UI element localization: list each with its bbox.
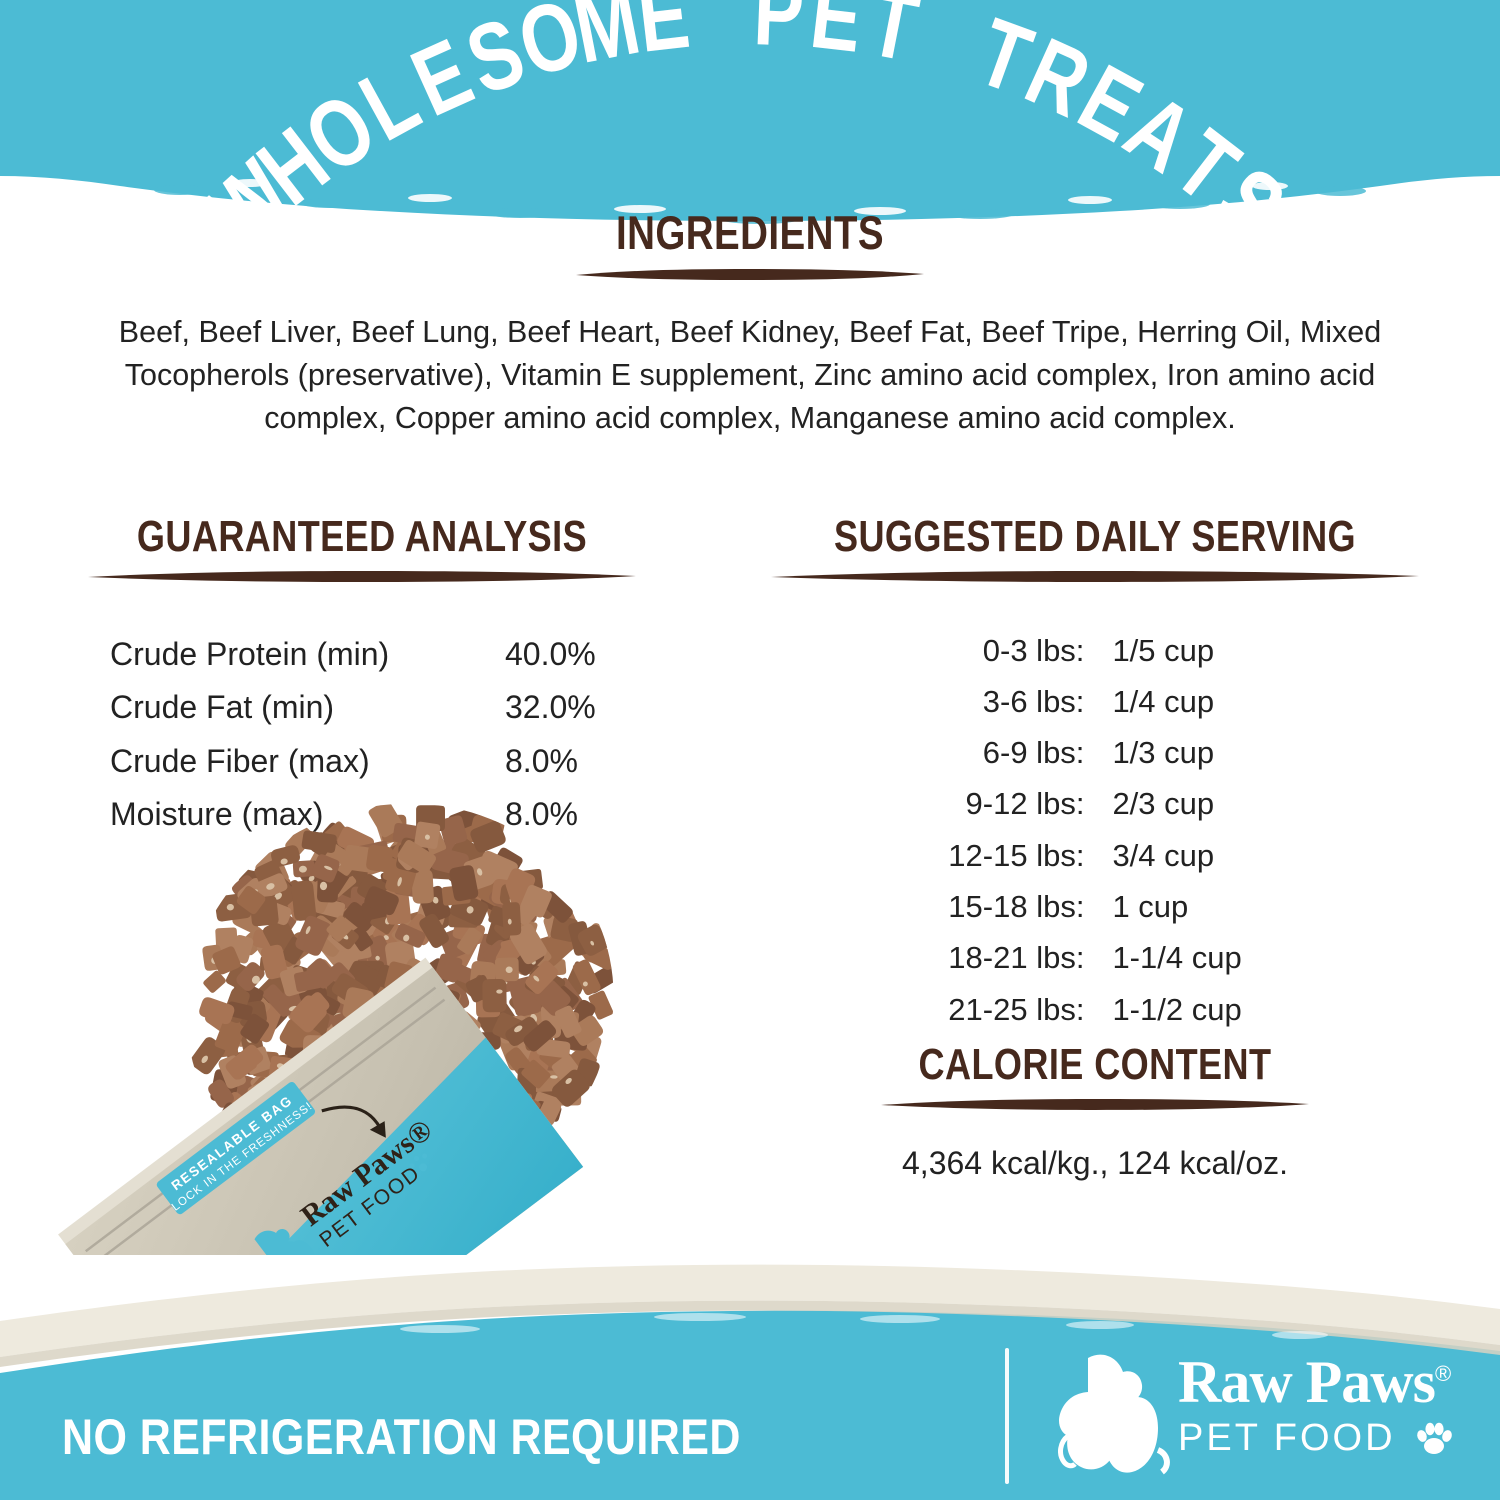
- kibble-piece: [557, 1083, 581, 1105]
- kibble-piece: [453, 846, 487, 881]
- kibble-piece: [373, 1138, 408, 1167]
- kibble-piece: [497, 1030, 529, 1072]
- kibble-piece: [234, 960, 267, 994]
- kibble-piece: [341, 957, 371, 989]
- serving-weight: 3-6 lbs:: [948, 676, 1098, 727]
- kibble-piece: [294, 1113, 330, 1136]
- kibble-piece: [468, 974, 497, 1003]
- kibble-piece: [202, 970, 227, 994]
- kibble-piece: [235, 876, 276, 917]
- kibble-piece: [264, 905, 297, 935]
- kibble-piece: [470, 1032, 501, 1050]
- kibble-piece: [329, 1010, 358, 1043]
- kibble-piece: [413, 857, 447, 876]
- ingredients-heading: INGREDIENTS: [135, 205, 1365, 260]
- kibble-piece: [534, 959, 566, 977]
- kibble-piece: [448, 891, 490, 928]
- table-row: 3-6 lbs: 1/4 cup: [948, 676, 1241, 727]
- kibble-piece: [326, 960, 357, 991]
- kibble-piece: [485, 1124, 521, 1160]
- kibble-piece: [507, 1090, 542, 1121]
- kibble-piece: [236, 1074, 274, 1105]
- kibble-piece: [492, 907, 525, 941]
- bag-logo-sub: PET FOOD: [315, 1161, 424, 1251]
- kibble-piece: [363, 1076, 390, 1096]
- serving-weight: 9-12 lbs:: [948, 779, 1098, 830]
- kibble-piece: [476, 996, 500, 1017]
- brand-logo-registered-mark: ®: [1435, 1361, 1450, 1386]
- kibble-piece: [383, 1057, 412, 1088]
- kibble-piece: [392, 1029, 429, 1064]
- kibble-piece: [428, 985, 462, 1021]
- kibble-piece: [309, 916, 340, 954]
- kibble-piece: [491, 1075, 526, 1110]
- kibble-piece: [511, 1115, 548, 1148]
- kibble-piece: [414, 1170, 450, 1206]
- kibble-piece: [234, 1105, 255, 1135]
- kibble-piece: [474, 875, 509, 909]
- kibble-piece: [554, 1005, 583, 1039]
- kibble-piece: [385, 1023, 408, 1047]
- kibble-piece: [260, 1119, 284, 1145]
- kibble-piece: [303, 1073, 338, 1108]
- kibble-piece: [519, 883, 553, 919]
- kibble-piece: [385, 1128, 418, 1164]
- kibble-piece: [438, 1031, 474, 1067]
- kibble-piece: [260, 1055, 291, 1079]
- kibble-piece: [330, 971, 370, 1008]
- suggested-daily-serving-heading: SUGGESTED DAILY SERVING: [808, 512, 1382, 562]
- kibble-piece: [219, 1080, 242, 1108]
- kibble-piece: [500, 936, 528, 963]
- kibble-piece: [521, 1018, 558, 1054]
- kibble-piece: [327, 1125, 363, 1156]
- kibble-piece: [262, 900, 293, 927]
- kibble-piece: [331, 1114, 359, 1152]
- kibble-piece: [481, 938, 513, 969]
- kibble-piece: [528, 1091, 557, 1112]
- kibble-piece: [520, 1059, 551, 1090]
- table-row: 12-15 lbs: 3/4 cup: [948, 830, 1241, 881]
- kibble-piece: [211, 945, 242, 975]
- kibble-piece: [453, 861, 479, 890]
- kibble-piece: [308, 918, 350, 959]
- kibble-piece: [207, 1039, 238, 1059]
- kibble-piece: [518, 1057, 545, 1083]
- kibble-piece: [261, 1096, 298, 1138]
- kibble-piece: [322, 1004, 349, 1036]
- kibble-piece: [261, 1115, 291, 1140]
- kibble-piece: [516, 1068, 539, 1101]
- kibble-piece: [284, 1030, 309, 1059]
- kibble-piece: [515, 951, 550, 977]
- kibble-piece: [466, 1072, 502, 1096]
- kibble-piece: [279, 1141, 321, 1185]
- kibble-piece: [573, 1057, 600, 1087]
- kibble-piece: [220, 1087, 254, 1118]
- kibble-piece: [246, 1056, 268, 1075]
- guaranteed-analysis-heading: GUARANTEED ANALYSIS: [116, 512, 608, 562]
- resealable-badge-line1: RESEALABLE BAG: [168, 1092, 295, 1193]
- calorie-content-section: CALORIE CONTENT 4,364 kcal/kg., 124 kcal…: [745, 1040, 1445, 1182]
- kibble-piece: [449, 864, 480, 902]
- kibble-piece: [427, 1067, 466, 1095]
- kibble-piece: [460, 1141, 496, 1175]
- kibble-piece: [406, 906, 444, 934]
- kibble-piece: [492, 1091, 524, 1124]
- kibble-piece: [487, 905, 519, 931]
- kibble-piece: [299, 1032, 328, 1069]
- kibble-piece: [377, 1053, 415, 1085]
- kibble-piece: [385, 985, 403, 1011]
- kibble-piece: [267, 1127, 310, 1169]
- kibble-piece: [384, 1007, 420, 1041]
- kibble-piece: [252, 1051, 280, 1078]
- kibble-piece: [576, 923, 611, 958]
- kibble-pile: [188, 800, 619, 1210]
- kibble-piece: [291, 880, 317, 922]
- analysis-value: 8.0%: [487, 735, 662, 788]
- kibble-piece: [275, 878, 313, 916]
- kibble-piece: [305, 981, 329, 1014]
- brand-logo-name: Raw Paws: [1178, 1349, 1435, 1415]
- seal-arrow-icon: [322, 1089, 385, 1156]
- kibble-piece: [287, 1047, 307, 1065]
- kibble-piece: [467, 880, 486, 908]
- kibble-piece: [474, 849, 519, 889]
- kibble-piece: [361, 1163, 397, 1197]
- kibble-piece: [536, 1038, 571, 1058]
- kibble-piece: [355, 1122, 386, 1154]
- kibble-piece: [381, 985, 409, 1012]
- kibble-piece: [340, 946, 372, 977]
- kibble-piece: [389, 1149, 417, 1179]
- kibble-piece: [337, 1053, 368, 1085]
- kibble-piece: [495, 957, 519, 981]
- kibble-piece: [374, 963, 407, 994]
- kibble-piece: [346, 1123, 366, 1153]
- kibble-piece: [412, 1154, 436, 1183]
- kibble-piece: [343, 844, 378, 873]
- kibble-piece: [374, 1122, 412, 1166]
- kibble-piece: [512, 943, 546, 977]
- kibble-piece: [385, 1064, 423, 1096]
- kibble-piece: [371, 916, 409, 952]
- table-row: 18-21 lbs: 1-1/4 cup: [948, 933, 1241, 984]
- kibble-piece: [296, 1094, 331, 1130]
- kibble-piece: [550, 1067, 593, 1109]
- kibble-piece: [326, 938, 357, 969]
- kibble-piece: [292, 990, 331, 1027]
- kibble-piece: [365, 844, 394, 873]
- kibble-piece: [224, 1043, 266, 1082]
- kibble-piece: [237, 986, 264, 1014]
- kibble-piece: [295, 1052, 324, 1072]
- calorie-content-underline-brush: [875, 1097, 1315, 1111]
- kibble-piece: [557, 1021, 590, 1054]
- kibble-piece: [320, 862, 352, 896]
- kibble-piece: [293, 860, 316, 877]
- kibble-piece: [250, 992, 291, 1033]
- kibble-piece: [395, 1060, 426, 1088]
- kibble-piece: [273, 930, 314, 969]
- kibble-piece: [514, 1122, 547, 1152]
- kibble-piece: [386, 1130, 424, 1156]
- seal-arrow-head-icon: [370, 1120, 393, 1143]
- kibble-piece: [535, 1096, 563, 1127]
- kibble-piece: [451, 1009, 483, 1040]
- serving-amount: 1/5 cup: [1098, 625, 1241, 676]
- kibble-piece: [353, 1025, 391, 1063]
- kibble-piece: [305, 1155, 336, 1183]
- table-row: 6-9 lbs: 1/3 cup: [948, 728, 1241, 779]
- kibble-piece: [438, 928, 467, 960]
- kibble-piece: [263, 1110, 292, 1145]
- kibble-piece: [355, 961, 385, 979]
- kibble-piece: [572, 1032, 603, 1069]
- kibble-piece: [324, 1121, 351, 1149]
- kibble-piece: [553, 977, 584, 1012]
- kibble-piece: [360, 1145, 392, 1177]
- kibble-piece: [403, 1168, 436, 1210]
- serving-amount: 3/4 cup: [1098, 830, 1241, 881]
- kibble-piece: [280, 1113, 315, 1148]
- kibble-piece: [448, 1144, 471, 1173]
- kibble-piece: [428, 1036, 466, 1071]
- kibble-piece: [508, 922, 549, 967]
- kibble-piece: [450, 1056, 476, 1087]
- kibble-piece: [550, 915, 579, 943]
- kibble-piece: [521, 1049, 552, 1089]
- kibble-piece: [442, 1066, 472, 1096]
- kibble-piece: [444, 1061, 479, 1083]
- kibble-piece: [253, 859, 287, 894]
- kibble-piece: [411, 1066, 437, 1086]
- kibble-piece: [438, 838, 468, 869]
- kibble-piece: [214, 1015, 248, 1054]
- kibble-piece: [335, 976, 375, 1014]
- kibble-piece: [417, 912, 450, 950]
- pet-treats-label-page: WHOLESOME PET TREATS WHOLESOMEPETTREATS …: [0, 0, 1500, 1500]
- kibble-piece: [383, 960, 414, 994]
- kibble-piece: [258, 882, 291, 915]
- kibble-piece: [365, 941, 389, 966]
- kibble-piece: [342, 1143, 369, 1164]
- kibble-piece: [359, 1052, 391, 1081]
- kibble-piece: [379, 1093, 406, 1116]
- kibble-piece: [355, 872, 399, 911]
- kibble-piece: [411, 1090, 449, 1117]
- kibble-piece: [540, 1004, 561, 1039]
- kibble-piece: [344, 991, 383, 1031]
- kibble-piece: [298, 859, 332, 893]
- kibble-piece: [427, 980, 471, 1018]
- kibble-piece: [410, 1047, 437, 1071]
- kibble-piece: [521, 1125, 548, 1155]
- kibble-piece: [322, 1037, 352, 1076]
- kibble-piece: [303, 1035, 341, 1060]
- kibble-piece: [423, 1149, 455, 1179]
- kibble-piece: [367, 1115, 406, 1156]
- kibble-piece: [564, 961, 592, 996]
- kibble-piece: [382, 857, 415, 886]
- kibble-piece: [475, 999, 518, 1040]
- kibble-piece: [349, 886, 375, 923]
- kibble-piece: [278, 1017, 323, 1058]
- kibble-piece: [226, 1049, 258, 1080]
- brand-logo-subtitle-text: PET FOOD: [1178, 1417, 1396, 1459]
- kibble-piece: [326, 1097, 354, 1128]
- kibble-piece: [465, 1101, 486, 1131]
- kibble-piece: [390, 917, 421, 948]
- kibble-piece: [405, 1028, 433, 1055]
- kibble-piece: [582, 940, 619, 971]
- kibble-piece: [419, 1153, 449, 1182]
- kibble-piece: [224, 1016, 256, 1049]
- kibble-piece: [310, 853, 341, 884]
- kibble-piece: [503, 1045, 533, 1077]
- kibble-piece: [569, 1013, 605, 1048]
- header-band: [0, 0, 1500, 230]
- suggested-daily-serving-underline-brush: [765, 569, 1425, 583]
- calorie-content-heading: CALORIE CONTENT: [808, 1040, 1382, 1090]
- kibble-piece: [503, 1015, 541, 1049]
- kibble-piece: [308, 1017, 345, 1039]
- table-row: 21-25 lbs: 1-1/2 cup: [948, 984, 1241, 1035]
- kibble-piece: [312, 864, 342, 894]
- kibble-piece: [426, 1011, 457, 1042]
- kibble-piece: [246, 1079, 283, 1122]
- kibble-piece: [377, 949, 415, 988]
- kibble-piece: [256, 1136, 280, 1164]
- kibble-piece: [317, 870, 339, 903]
- kibble-piece: [255, 968, 295, 1008]
- kibble-piece: [242, 1046, 272, 1076]
- kibble-piece: [447, 962, 487, 1000]
- kibble-piece: [452, 1064, 487, 1106]
- kibble-piece: [424, 957, 454, 988]
- kibble-piece: [384, 858, 419, 897]
- kibble-piece: [403, 912, 439, 948]
- kibble-piece: [270, 844, 302, 868]
- kibble-piece: [527, 890, 560, 921]
- kibble-piece: [360, 1120, 382, 1149]
- kibble-piece: [322, 999, 362, 1026]
- kibble-piece: [258, 857, 290, 890]
- kibble-piece: [396, 838, 438, 876]
- kibble-piece: [502, 902, 522, 936]
- kibble-piece: [532, 977, 573, 1018]
- table-row: Crude Fat (min) 32.0%: [62, 681, 662, 734]
- kibble-piece: [371, 1098, 408, 1140]
- kibble-piece: [259, 874, 299, 914]
- dog-cat-silhouette-icon: [1058, 1350, 1170, 1490]
- kibble-piece: [334, 938, 365, 975]
- brand-logo-subtitle: PET FOOD: [1178, 1417, 1458, 1460]
- kibble-piece: [203, 1002, 240, 1037]
- kibble-piece: [348, 925, 374, 952]
- kibble-piece: [534, 1100, 563, 1123]
- kibble-piece: [322, 923, 352, 953]
- kibble-piece: [305, 956, 339, 990]
- kibble-piece: [345, 1060, 383, 1086]
- kibble-piece: [466, 1058, 504, 1096]
- kibble-piece: [439, 1088, 462, 1115]
- kibble-piece: [377, 1051, 415, 1090]
- kibble-piece: [395, 956, 436, 999]
- kibble-piece: [554, 1029, 589, 1051]
- kibble-piece: [269, 1143, 305, 1180]
- kibble-piece: [489, 846, 525, 882]
- kibble-piece: [237, 1000, 268, 1028]
- kibble-piece: [469, 960, 497, 996]
- kibble-piece: [393, 1119, 436, 1156]
- kibble-piece: [198, 996, 236, 1026]
- kibble-piece: [380, 869, 406, 891]
- kibble-piece: [261, 983, 296, 1018]
- kibble-piece: [206, 1077, 236, 1110]
- kibble-piece: [217, 1054, 247, 1090]
- kibble-piece: [347, 998, 368, 1026]
- kibble-piece: [372, 967, 408, 1003]
- paw-print-icon: [1415, 1422, 1453, 1456]
- header-wave-shape: [0, 0, 1500, 230]
- kibble-piece: [384, 940, 417, 977]
- kibble-piece: [468, 1070, 500, 1106]
- table-row: 15-18 lbs: 1 cup: [948, 882, 1241, 933]
- kibble-piece: [375, 1030, 408, 1069]
- kibble-piece: [523, 964, 567, 1004]
- kibble-piece: [344, 1115, 384, 1153]
- kibble-piece: [398, 843, 425, 871]
- kibble-piece: [485, 919, 513, 950]
- kibble-piece: [358, 1135, 394, 1171]
- kibble-piece: [456, 926, 483, 956]
- serving-weight: 15-18 lbs:: [948, 882, 1098, 933]
- kibble-piece: [492, 1099, 521, 1125]
- kibble-piece: [306, 885, 337, 923]
- kibble-piece: [364, 970, 390, 1006]
- kibble-piece: [381, 1004, 401, 1033]
- kibble-piece: [400, 1004, 428, 1027]
- kibble-piece: [235, 885, 267, 916]
- kibble-piece: [253, 1129, 286, 1169]
- kibble-piece: [503, 1137, 522, 1164]
- kibble-piece: [266, 1057, 304, 1088]
- kibble-piece: [309, 989, 345, 1026]
- kibble-piece: [571, 958, 602, 996]
- kibble-piece: [249, 896, 279, 927]
- kibble-piece: [415, 887, 451, 928]
- kibble-piece: [371, 1071, 403, 1109]
- table-row: Crude Fiber (max) 8.0%: [62, 735, 662, 788]
- kibble-piece: [222, 987, 252, 1025]
- kibble-piece: [214, 892, 252, 922]
- kibble-piece: [237, 868, 271, 894]
- kibble-piece: [319, 1157, 339, 1186]
- serving-amount: 2/3 cup: [1098, 779, 1241, 830]
- kibble-piece: [309, 895, 346, 919]
- kibble-piece: [268, 1055, 296, 1082]
- kibble-piece: [369, 903, 401, 936]
- kibble-piece: [383, 1152, 427, 1196]
- kibble-piece: [438, 1028, 476, 1053]
- kibble-piece: [508, 1109, 533, 1142]
- kibble-piece: [482, 979, 507, 1013]
- kibble-piece: [315, 929, 352, 967]
- kibble-piece: [400, 1005, 432, 1035]
- kibble-piece: [291, 1142, 326, 1179]
